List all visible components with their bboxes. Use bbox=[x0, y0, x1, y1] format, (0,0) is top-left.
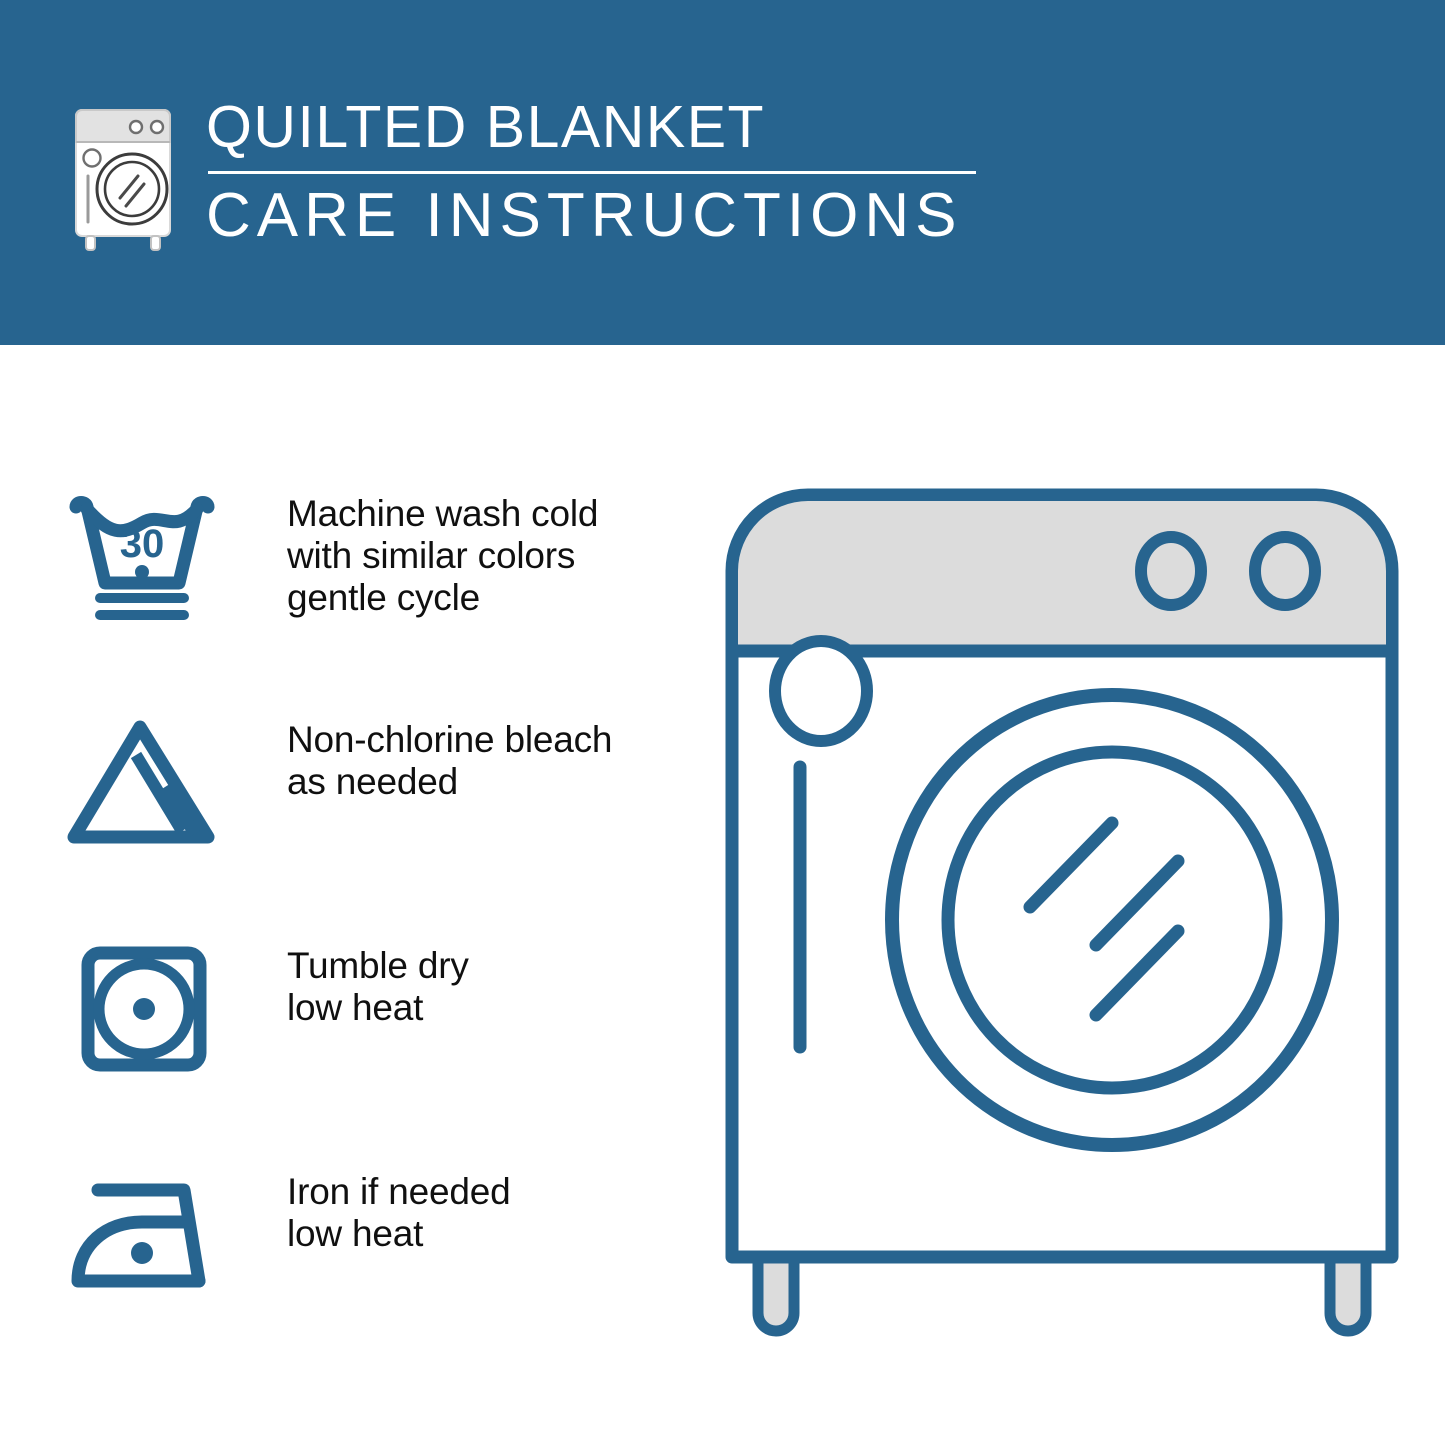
care-text-line: Machine wash cold bbox=[287, 493, 598, 535]
gentle-cycle-dot bbox=[135, 565, 149, 579]
care-text-line: Non-chlorine bleach bbox=[287, 719, 612, 761]
care-item-tumble-dry-text: Tumble dry low heat bbox=[287, 937, 469, 1029]
machine-wash-30-icon: 30 bbox=[62, 485, 237, 624]
care-text-line: as needed bbox=[287, 761, 612, 803]
low-heat-dot bbox=[131, 1242, 153, 1264]
care-item-machine-wash: 30 Machine wash cold with similar colors… bbox=[62, 485, 682, 711]
front-load-washing-machine-illustration bbox=[712, 475, 1412, 1365]
care-item-iron: Iron if needed low heat bbox=[62, 1163, 682, 1389]
non-chlorine-bleach-icon bbox=[62, 711, 237, 850]
care-text-line: low heat bbox=[287, 987, 469, 1029]
leg-right bbox=[1330, 1257, 1366, 1331]
tumble-dry-low-icon bbox=[62, 937, 237, 1076]
care-text-line: Tumble dry bbox=[287, 945, 469, 987]
care-text-line: gentle cycle bbox=[287, 577, 598, 619]
knob-left bbox=[1141, 537, 1201, 605]
wash-temp-label: 30 bbox=[120, 522, 165, 566]
care-instructions-page: QUILTED BLANKET CARE INSTRUCTIONS 30 bbox=[0, 0, 1445, 1445]
page-body: 30 Machine wash cold with similar colors… bbox=[0, 345, 1445, 1445]
care-text-line: low heat bbox=[287, 1213, 510, 1255]
care-item-machine-wash-text: Machine wash cold with similar colors ge… bbox=[287, 485, 598, 619]
header-content: QUILTED BLANKET CARE INSTRUCTIONS bbox=[62, 96, 976, 252]
care-item-bleach-text: Non-chlorine bleach as needed bbox=[287, 711, 612, 803]
care-instruction-list: 30 Machine wash cold with similar colors… bbox=[62, 485, 682, 1389]
care-item-tumble-dry: Tumble dry low heat bbox=[62, 937, 682, 1163]
title-divider bbox=[208, 171, 976, 174]
title-block: QUILTED BLANKET CARE INSTRUCTIONS bbox=[206, 96, 976, 249]
care-item-iron-text: Iron if needed low heat bbox=[287, 1163, 510, 1255]
care-text-line: Iron if needed bbox=[287, 1171, 510, 1213]
leg-left bbox=[758, 1257, 794, 1331]
page-title: QUILTED BLANKET bbox=[206, 96, 976, 158]
detergent-indicator bbox=[775, 641, 867, 741]
care-item-bleach: Non-chlorine bleach as needed bbox=[62, 711, 682, 937]
low-heat-dot bbox=[133, 998, 155, 1020]
care-text-line: with similar colors bbox=[287, 535, 598, 577]
washing-machine-icon bbox=[62, 102, 184, 252]
page-header: QUILTED BLANKET CARE INSTRUCTIONS bbox=[0, 0, 1445, 345]
knob-right bbox=[1255, 537, 1315, 605]
iron-low-heat-icon bbox=[62, 1163, 237, 1302]
page-subtitle: CARE INSTRUCTIONS bbox=[206, 183, 976, 249]
